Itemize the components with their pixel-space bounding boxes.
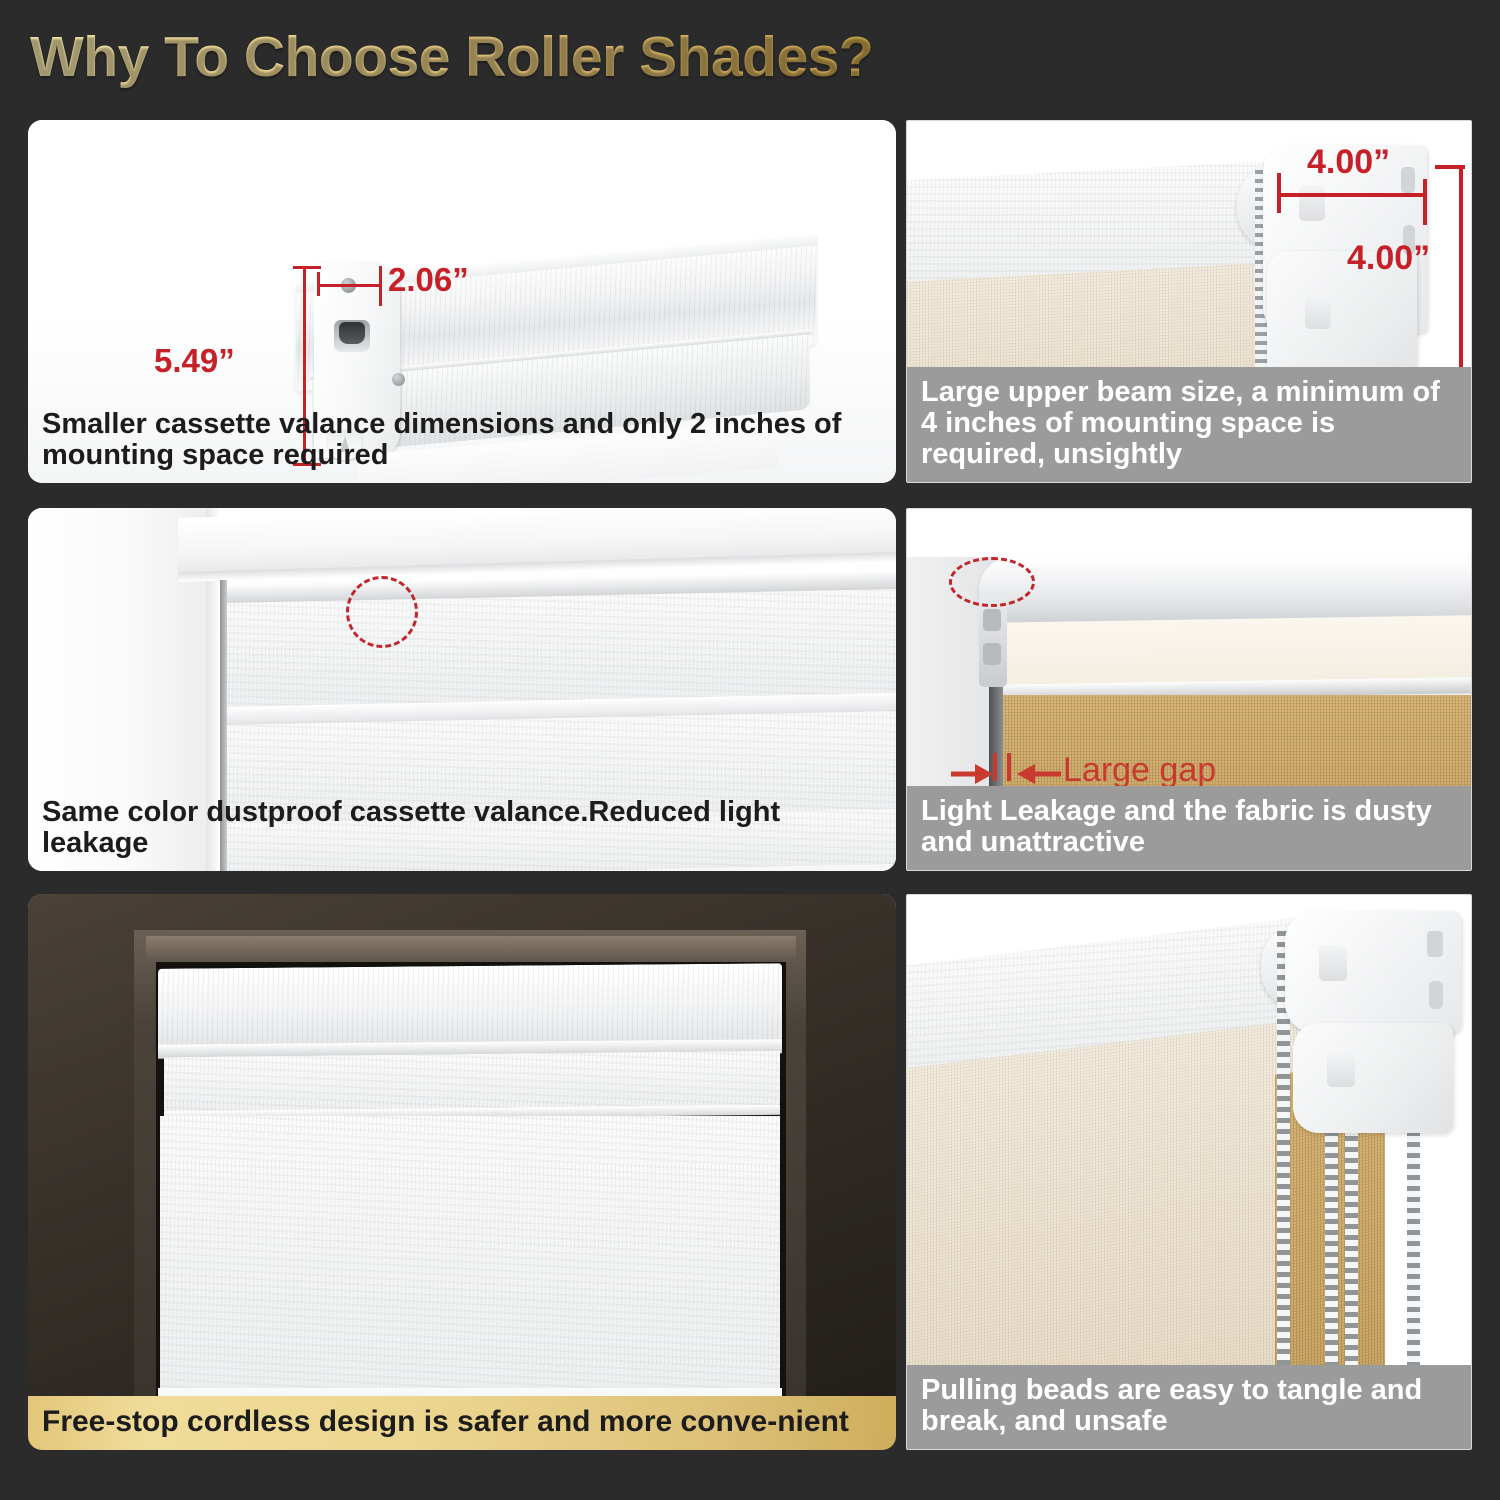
panel-5-caption: Free-stop cordless design is safer and m… — [28, 1396, 896, 1450]
width-dimension-label: 4.00” — [1307, 143, 1390, 182]
gap-marker-left — [993, 753, 997, 781]
highlight-circle — [949, 557, 1035, 607]
panel-dustproof-valance: smaller gap Same color dustproof cassett… — [28, 508, 896, 871]
comparison-grid: 2.06” 5.49” Smaller cassette valance dim… — [0, 0, 1500, 1500]
gap-arrow-right — [1017, 761, 1061, 787]
width-dim-tick-right — [1423, 179, 1427, 225]
panel-light-leakage: Large gap Light Leakage and the fabric i… — [906, 508, 1472, 871]
panel-large-beam: 4.00” 4.00” Large upper beam size, a min… — [906, 120, 1472, 483]
width-dim-tick-right — [379, 266, 382, 306]
panel-2-caption: Large upper beam size, a minimum of 4 in… — [907, 367, 1471, 482]
panel-smaller-cassette: 2.06” 5.49” Smaller cassette valance dim… — [28, 120, 896, 483]
gap-label: Large gap — [1063, 751, 1216, 790]
width-dim-tick-left — [1277, 173, 1281, 213]
height-dim-tick-top — [293, 266, 321, 269]
width-dim-tick-left — [317, 272, 320, 296]
panel-1-caption: Smaller cassette valance dimensions and … — [28, 399, 896, 483]
highlight-circle — [346, 576, 418, 648]
panel-4-caption: Light Leakage and the fabric is dusty an… — [907, 786, 1471, 870]
panel-6-caption: Pulling beads are easy to tangle and bre… — [907, 1365, 1471, 1449]
panel-3-caption: Same color dustproof cassette valance.Re… — [28, 787, 896, 871]
panel-pulling-beads: Pulling beads are easy to tangle and bre… — [906, 894, 1472, 1450]
height-dimension-label: 5.49” — [154, 342, 235, 380]
gap-arrow-left — [951, 761, 995, 787]
width-dimension-label: 2.06” — [388, 261, 469, 299]
panel-5-photo — [28, 894, 896, 1450]
panel-cordless-design: Free-stop cordless design is safer and m… — [28, 894, 896, 1450]
height-dim-tick-top — [1435, 165, 1465, 169]
height-dimension-label: 4.00” — [1347, 239, 1430, 278]
width-dim-line — [1279, 193, 1427, 197]
infographic-page: Why To Choose Roller Shades? — [0, 0, 1500, 1500]
gap-marker-right — [1007, 753, 1011, 781]
width-dim-line — [318, 284, 381, 287]
